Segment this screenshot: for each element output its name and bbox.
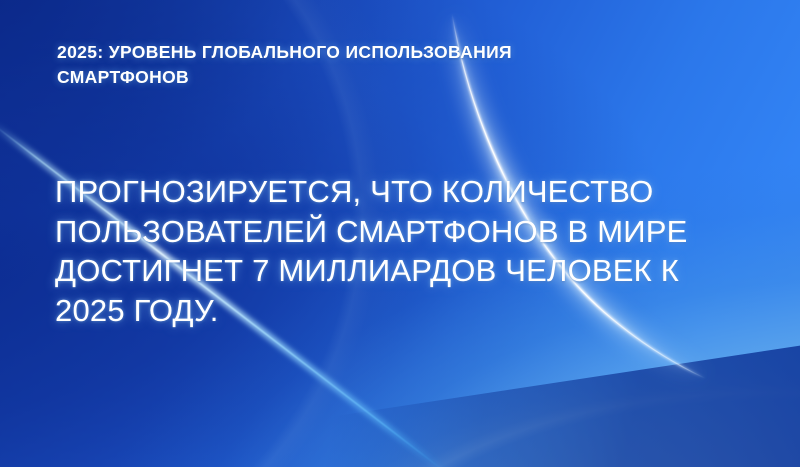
slide-body-text: Прогнозируется, что количество пользоват…: [55, 172, 735, 331]
slide-title: 2025: Уровень глобального использования …: [57, 40, 617, 90]
slide-content: 2025: Уровень глобального использования …: [0, 0, 800, 467]
presentation-slide: 2025: Уровень глобального использования …: [0, 0, 800, 467]
